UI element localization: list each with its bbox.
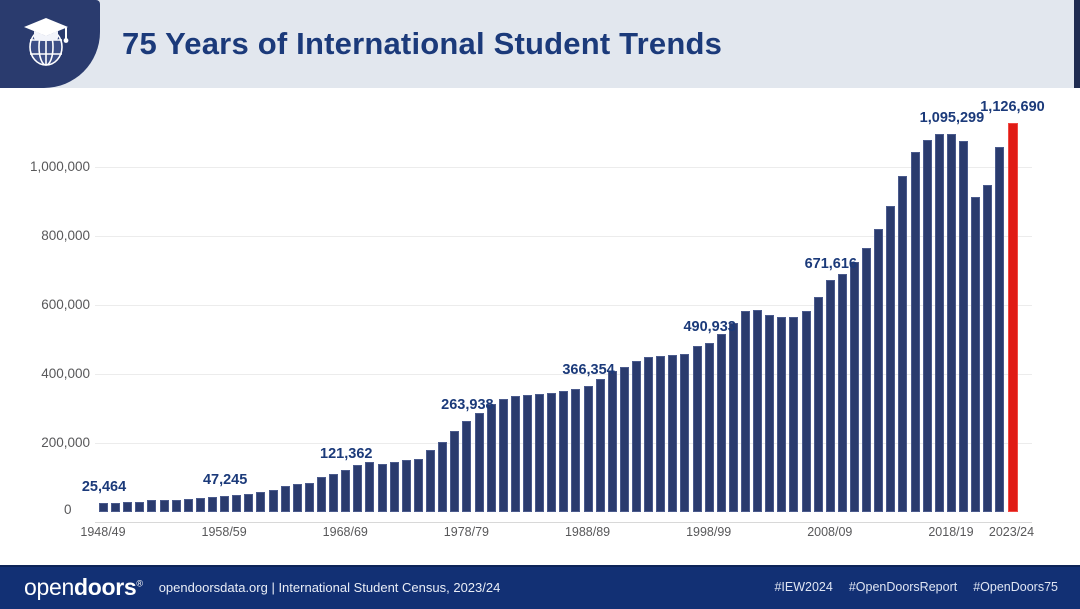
bar: [862, 248, 871, 512]
bar: [523, 395, 532, 512]
bar: [462, 421, 471, 512]
bar: [753, 310, 762, 512]
data-label: 121,362: [320, 446, 372, 462]
bar: [475, 413, 484, 512]
bar: [741, 311, 750, 512]
chart-area: 200,000400,000600,000800,0001,000,000 25…: [0, 88, 1080, 565]
bar: [487, 404, 496, 512]
page-header: 75 Years of International Student Trends: [0, 0, 1080, 88]
bar: [450, 431, 459, 512]
bar: [729, 323, 738, 512]
x-axis-tick-label: 1998/99: [686, 525, 731, 539]
bar: [584, 386, 593, 512]
data-label: 671,616: [805, 256, 857, 272]
bar: [438, 442, 447, 512]
bar: [365, 462, 374, 512]
data-label: 47,245: [203, 472, 247, 488]
bar: [256, 492, 265, 512]
bar: [353, 465, 362, 512]
bar: [123, 502, 132, 512]
bar: [111, 503, 120, 512]
y-axis-tick-label: 1,000,000: [4, 159, 90, 174]
bar: [717, 334, 726, 512]
bar: [535, 394, 544, 512]
data-label: 263,938: [441, 397, 493, 413]
bar: [802, 311, 811, 512]
data-label: 366,354: [562, 362, 614, 378]
footer-meta-text: opendoorsdata.org | International Studen…: [159, 580, 501, 595]
bar: [147, 500, 156, 512]
bar: [547, 393, 556, 512]
bar: [983, 185, 992, 512]
x-axis-tick-label: 1968/69: [323, 525, 368, 539]
bar: [269, 490, 278, 512]
y-axis-tick-label: 600,000: [4, 297, 90, 312]
bar: [935, 134, 944, 512]
x-axis-tick-label: 1978/79: [444, 525, 489, 539]
bar: [705, 343, 714, 512]
data-label: 490,933: [683, 319, 735, 335]
y-axis-tick-label: 800,000: [4, 228, 90, 243]
registered-mark: ®: [136, 578, 142, 588]
bar: [511, 396, 520, 512]
bar: [402, 460, 411, 512]
bar: [850, 262, 859, 512]
bar: [814, 297, 823, 512]
x-axis-line: [95, 522, 1032, 523]
bar: [184, 499, 193, 512]
opendoors-wordmark: opendoors®: [24, 574, 143, 601]
bar: [172, 500, 181, 512]
bar: [680, 354, 689, 512]
bar: [160, 500, 169, 512]
bar: [886, 206, 895, 512]
bar: [874, 229, 883, 512]
data-label: 1,095,299: [920, 110, 985, 126]
bar: [995, 147, 1004, 512]
bar: [281, 486, 290, 512]
bar: [559, 391, 568, 512]
bar: [390, 462, 399, 512]
bar: [135, 502, 144, 513]
wordmark-doors: doors: [74, 574, 136, 600]
x-axis-tick-label: 1948/49: [80, 525, 125, 539]
bar: [232, 495, 241, 512]
bar: [414, 459, 423, 512]
bar: [608, 371, 617, 512]
bar: [99, 503, 108, 512]
page-footer: opendoors® opendoorsdata.org | Internati…: [0, 565, 1080, 609]
bar: [305, 483, 314, 512]
bar: [499, 399, 508, 512]
bar: [838, 274, 847, 512]
bar: [596, 379, 605, 512]
plot-region: 25,46447,245121,362263,938366,354490,933…: [95, 98, 1035, 512]
x-axis-tick-label: 1958/59: [202, 525, 247, 539]
header-right-edge: [1074, 0, 1080, 88]
bar: [789, 317, 798, 512]
bar: [693, 346, 702, 512]
graduation-globe-icon: [14, 14, 74, 75]
opendoors-logo-badge: [0, 0, 100, 88]
y-axis-tick-label: 400,000: [4, 366, 90, 381]
y-axis-zero-label: 0: [64, 502, 72, 517]
y-axis-tick-label: 200,000: [4, 435, 90, 450]
page-title: 75 Years of International Student Trends: [122, 0, 722, 88]
x-axis-tick-label: 2008/09: [807, 525, 852, 539]
bar: [826, 280, 835, 512]
bar: [898, 176, 907, 512]
bar: [378, 464, 387, 512]
bar: [632, 361, 641, 512]
data-label: 1,126,690: [980, 99, 1045, 115]
bar: [923, 140, 932, 512]
bar: [911, 152, 920, 512]
bar: [244, 494, 253, 512]
bar: [620, 367, 629, 512]
footer-hashtags: #IEW2024#OpenDoorsReport#OpenDoors75: [758, 580, 1058, 594]
bar: [668, 355, 677, 512]
hashtag[interactable]: #OpenDoors75: [973, 580, 1058, 594]
bar: [777, 317, 786, 512]
bar: [971, 197, 980, 512]
bar: [341, 470, 350, 512]
bar: [947, 134, 956, 512]
bar: [571, 389, 580, 512]
footer-divider: [0, 565, 1080, 567]
bar: [1008, 123, 1018, 512]
wordmark-open: open: [24, 574, 74, 600]
bar: [196, 498, 205, 512]
hashtag[interactable]: #IEW2024: [774, 580, 832, 594]
bar: [220, 496, 229, 512]
data-label: 25,464: [82, 479, 126, 495]
y-axis-labels: 200,000400,000600,000800,0001,000,000: [0, 98, 90, 512]
bar: [317, 477, 326, 512]
x-axis-tick-label: 1988/89: [565, 525, 610, 539]
bar: [293, 484, 302, 512]
bar: [329, 474, 338, 512]
bar: [959, 141, 968, 512]
x-axis-labels: 1948/491958/591968/691978/791988/891998/…: [0, 525, 1080, 547]
bar: [208, 497, 217, 512]
bar: [765, 315, 774, 513]
bar: [426, 450, 435, 512]
bar: [644, 357, 653, 512]
bar-series: [95, 98, 1035, 512]
hashtag[interactable]: #OpenDoorsReport: [849, 580, 957, 594]
x-axis-tick-label: 2023/24: [989, 525, 1034, 539]
x-axis-tick-label: 2018/19: [928, 525, 973, 539]
bar: [656, 356, 665, 512]
